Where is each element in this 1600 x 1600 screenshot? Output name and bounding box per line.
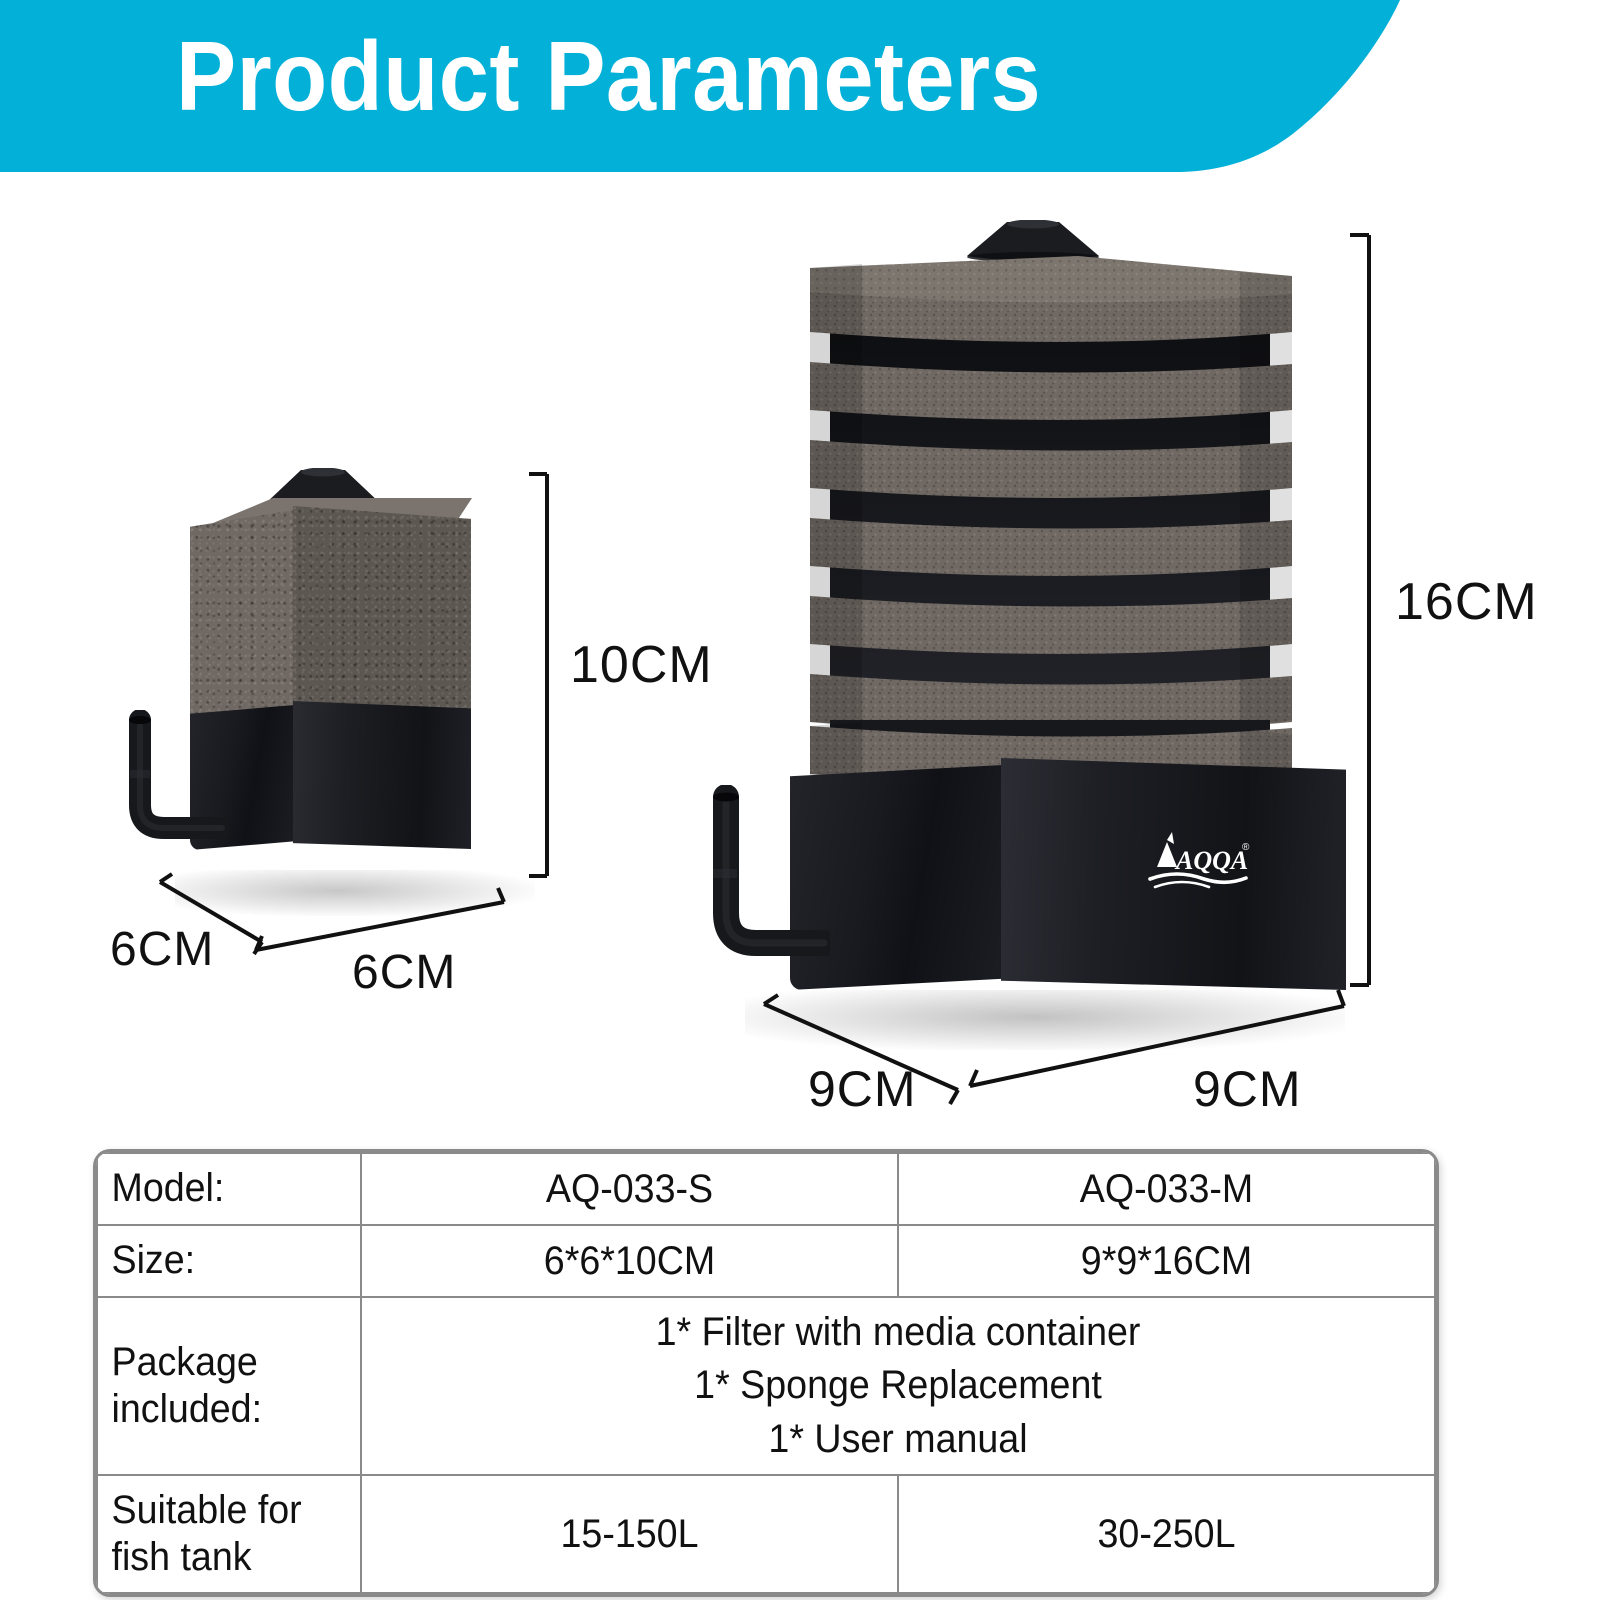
foam-stack-medium (770, 250, 1330, 750)
cell-label-package-line2: included: (112, 1387, 263, 1431)
table-row-model: Model: AQ-033-S AQ-033-M (97, 1153, 1435, 1225)
dimension-label-depth-small: 6CM (110, 922, 214, 977)
cell-label-package-line1: Package (112, 1340, 258, 1384)
dimension-line-height-small (525, 470, 565, 880)
foam-left-face-small (190, 510, 295, 720)
cell-model-small: AQ-033-S (377, 1153, 882, 1225)
spec-table-container: Model: AQ-033-S AQ-033-M Size: 6*6*10CM … (96, 1152, 1436, 1552)
foam-front-face-small (293, 506, 471, 720)
cell-label-model: Model: (105, 1153, 353, 1225)
dimension-label-height-medium: 16CM (1395, 572, 1538, 632)
product-illustration-area: AQQA ® 10CM (0, 180, 1600, 1140)
table-row-package: Package included: 1* Filter with media c… (97, 1297, 1435, 1475)
cell-fish-tank-small: 15-150L (377, 1475, 882, 1593)
cell-label-fish-tank-line2: fish tank (112, 1535, 252, 1579)
cell-size-medium: 9*9*16CM (914, 1225, 1419, 1297)
svg-text:AQQA: AQQA (1174, 846, 1248, 875)
package-line-3: 1* User manual (768, 1417, 1027, 1461)
dimension-label-width-small: 6CM (352, 945, 456, 1000)
dimension-label-width-medium: 9CM (1193, 1060, 1302, 1118)
package-line-2: 1* Sponge Replacement (694, 1363, 1102, 1407)
cell-label-fish-tank-line1: Suitable for (112, 1488, 302, 1532)
cell-package-contents: 1* Filter with media container 1* Sponge… (393, 1297, 1403, 1475)
cell-label-size: Size: (105, 1225, 353, 1297)
spec-table: Model: AQ-033-S AQ-033-M Size: 6*6*10CM … (96, 1152, 1436, 1594)
cell-model-medium: AQ-033-M (914, 1153, 1419, 1225)
cell-fish-tank-medium: 30-250L (914, 1475, 1419, 1593)
table-row-fish-tank: Suitable for fish tank 15-150L 30-250L (97, 1475, 1435, 1593)
cell-label-fish-tank: Suitable for fish tank (105, 1475, 353, 1593)
dimension-label-depth-medium: 9CM (808, 1060, 917, 1118)
outlet-pipe-icon-medium (700, 785, 830, 975)
brand-logo-medium: AQQA ® (1140, 830, 1258, 894)
page-title: Product Parameters (176, 24, 1041, 130)
dimension-line-height-medium (1345, 230, 1387, 990)
table-row-size: Size: 6*6*10CM 9*9*16CM (97, 1225, 1435, 1297)
package-line-1: 1* Filter with media container (656, 1310, 1141, 1354)
cell-label-package: Package included: (105, 1297, 353, 1475)
cell-size-small: 6*6*10CM (377, 1225, 882, 1297)
header-banner: Product Parameters (0, 0, 1600, 180)
base-front-face-small (293, 701, 471, 849)
svg-text:®: ® (1242, 842, 1250, 853)
outlet-pipe-icon-small (118, 710, 228, 850)
dimension-label-height-small: 10CM (570, 635, 713, 695)
